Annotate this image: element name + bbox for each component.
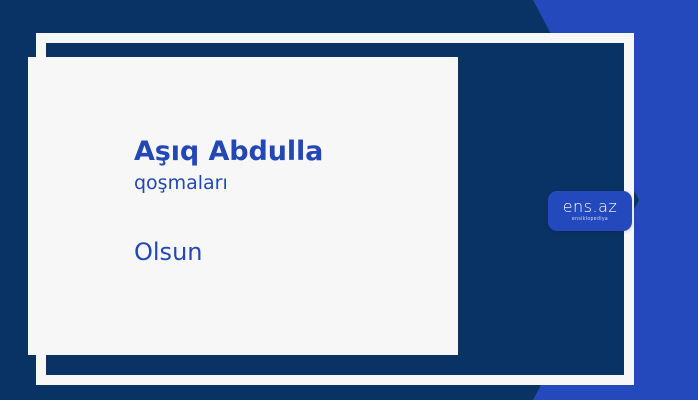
content-card: Aşıq Abdulla qoşmaları Olsun — [28, 57, 458, 355]
card-text-block: Aşıq Abdulla qoşmaları Olsun — [134, 137, 434, 267]
brand-wordmark: ens.az — [563, 199, 618, 215]
poem-card-image: Aşıq Abdulla qoşmaları Olsun ens.az ensi… — [0, 0, 698, 400]
brand-tagline: ensiklopediya — [572, 218, 608, 223]
poem-title: Olsun — [134, 238, 434, 267]
author-name: Aşıq Abdulla — [134, 137, 434, 168]
genre-label: qoşmaları — [134, 171, 434, 196]
ensaz-logo-badge[interactable]: ens.az ensiklopediya — [548, 191, 632, 231]
